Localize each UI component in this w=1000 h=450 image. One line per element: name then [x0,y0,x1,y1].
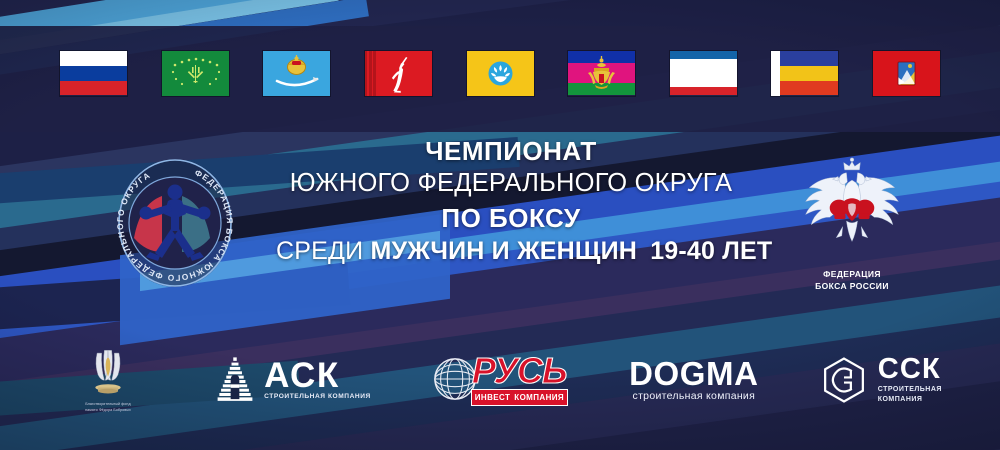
ssk-wordmark: ССК [878,356,942,384]
participating-regions-flags [60,47,940,99]
rus-tag-invest: ИНВЕСТ [475,393,511,402]
krasnodar-coat-of-arms-icon [568,51,635,96]
sponsor-statue-fund: Благотворительный фонд памяти Фёдора Боб… [62,347,154,413]
sevastopol-coat-of-arms-icon [873,51,940,96]
title-line-sport: ПО БОКСУ [276,205,746,231]
title-among-label: СРЕДИ [276,237,363,265]
russian-boxing-federation-emblem: ФЕДЕРАЦИЯ БОКСА РОССИИ [786,156,918,292]
dogma-tagline: строительная компания [633,390,756,402]
flag-volgograd [365,51,432,96]
sponsor-logos-row: Благотворительный фонд памяти Фёдора Боб… [62,334,942,426]
flag-adygea [162,51,229,96]
motherland-statue-icon [365,51,432,96]
rbf-caption-line2: БОКСА РОССИИ [786,281,918,292]
dogma-wordmark: DOGMA [629,358,759,389]
flag-rostov [771,51,838,96]
title-line-championship: ЧЕМПИОНАТ [276,138,746,164]
sponsor-ssk: ССК СТРОИТЕЛЬНАЯ КОМПАНИЯ [820,356,942,404]
rbf-caption-line1: ФЕДЕРАЦИЯ [786,269,918,280]
flag-sevastopol [873,51,940,96]
rus-tagline-bar: ИНВЕСТ КОМПАНИЯ [471,389,568,406]
statue-caption-line2: памяти Фёдора Бобровых [65,408,151,413]
sponsor-statue-caption: Благотворительный фонд памяти Фёдора Боб… [65,402,151,413]
sponsor-ask: АСК СТРОИТЕЛЬНАЯ КОМПАНИЯ [215,355,371,405]
rus-tag-company: КОМПАНИЯ [514,393,564,402]
double-headed-eagle-gloves-icon [786,156,918,260]
ask-pyramid-icon [215,355,255,405]
sponsor-rus-invest: РУСЬ ИНВЕСТ КОМПАНИЯ [432,352,568,408]
ssk-tagline: СТРОИТЕЛЬНАЯ КОМПАНИЯ [878,385,942,404]
kalmykia-lotus-icon [467,51,534,96]
title-age-range: 19-40 ЛЕТ [644,237,772,265]
sponsor-dogma: DOGMA строительная компания [629,358,759,402]
flag-kalmykia [467,51,534,96]
hands-sculpture-icon [79,347,137,399]
flag-crimea [670,51,737,96]
title-men-women-label: МУЖЧИН И ЖЕНЩИН [370,237,637,265]
event-title-block: ЧЕМПИОНАТ ЮЖНОГО ФЕДЕРАЛЬНОГО ОКРУГА ПО … [276,138,746,264]
astrakhan-crown-scimitar-icon [263,51,330,96]
ssk-hexagon-monogram-icon [820,356,868,404]
rbf-caption: ФЕДЕРАЦИЯ БОКСА РОССИИ [786,269,918,292]
rus-wordmark: РУСЬ [472,353,567,389]
title-line-category: СРЕДИ МУЖЧИН И ЖЕНЩИН 19-40 ЛЕТ [276,239,746,264]
ssk-tagline-line2: КОМПАНИЯ [878,395,942,404]
ask-tagline: СТРОИТЕЛЬНАЯ КОМПАНИЯ [264,393,371,400]
championship-poster: ФЕДЕРАЦИЯ БОКСА ЮЖНОГО ФЕДЕРАЛЬНОГО ОКРУ… [0,0,1000,450]
ssk-tagline-line1: СТРОИТЕЛЬНАЯ [878,385,942,394]
flag-krasnodar [568,51,635,96]
ask-wordmark: АСК [264,360,371,392]
federation-boxing-sfo-emblem: ФЕДЕРАЦИЯ БОКСА ЮЖНОГО ФЕДЕРАЛЬНОГО ОКРУ… [104,152,246,294]
flag-astrakhan [263,51,330,96]
flag-russia [60,51,127,96]
title-line-district: ЮЖНОГО ФЕДЕРАЛЬНОГО ОКРУГА [276,171,746,197]
adygea-stars-arrows-icon [162,51,229,96]
